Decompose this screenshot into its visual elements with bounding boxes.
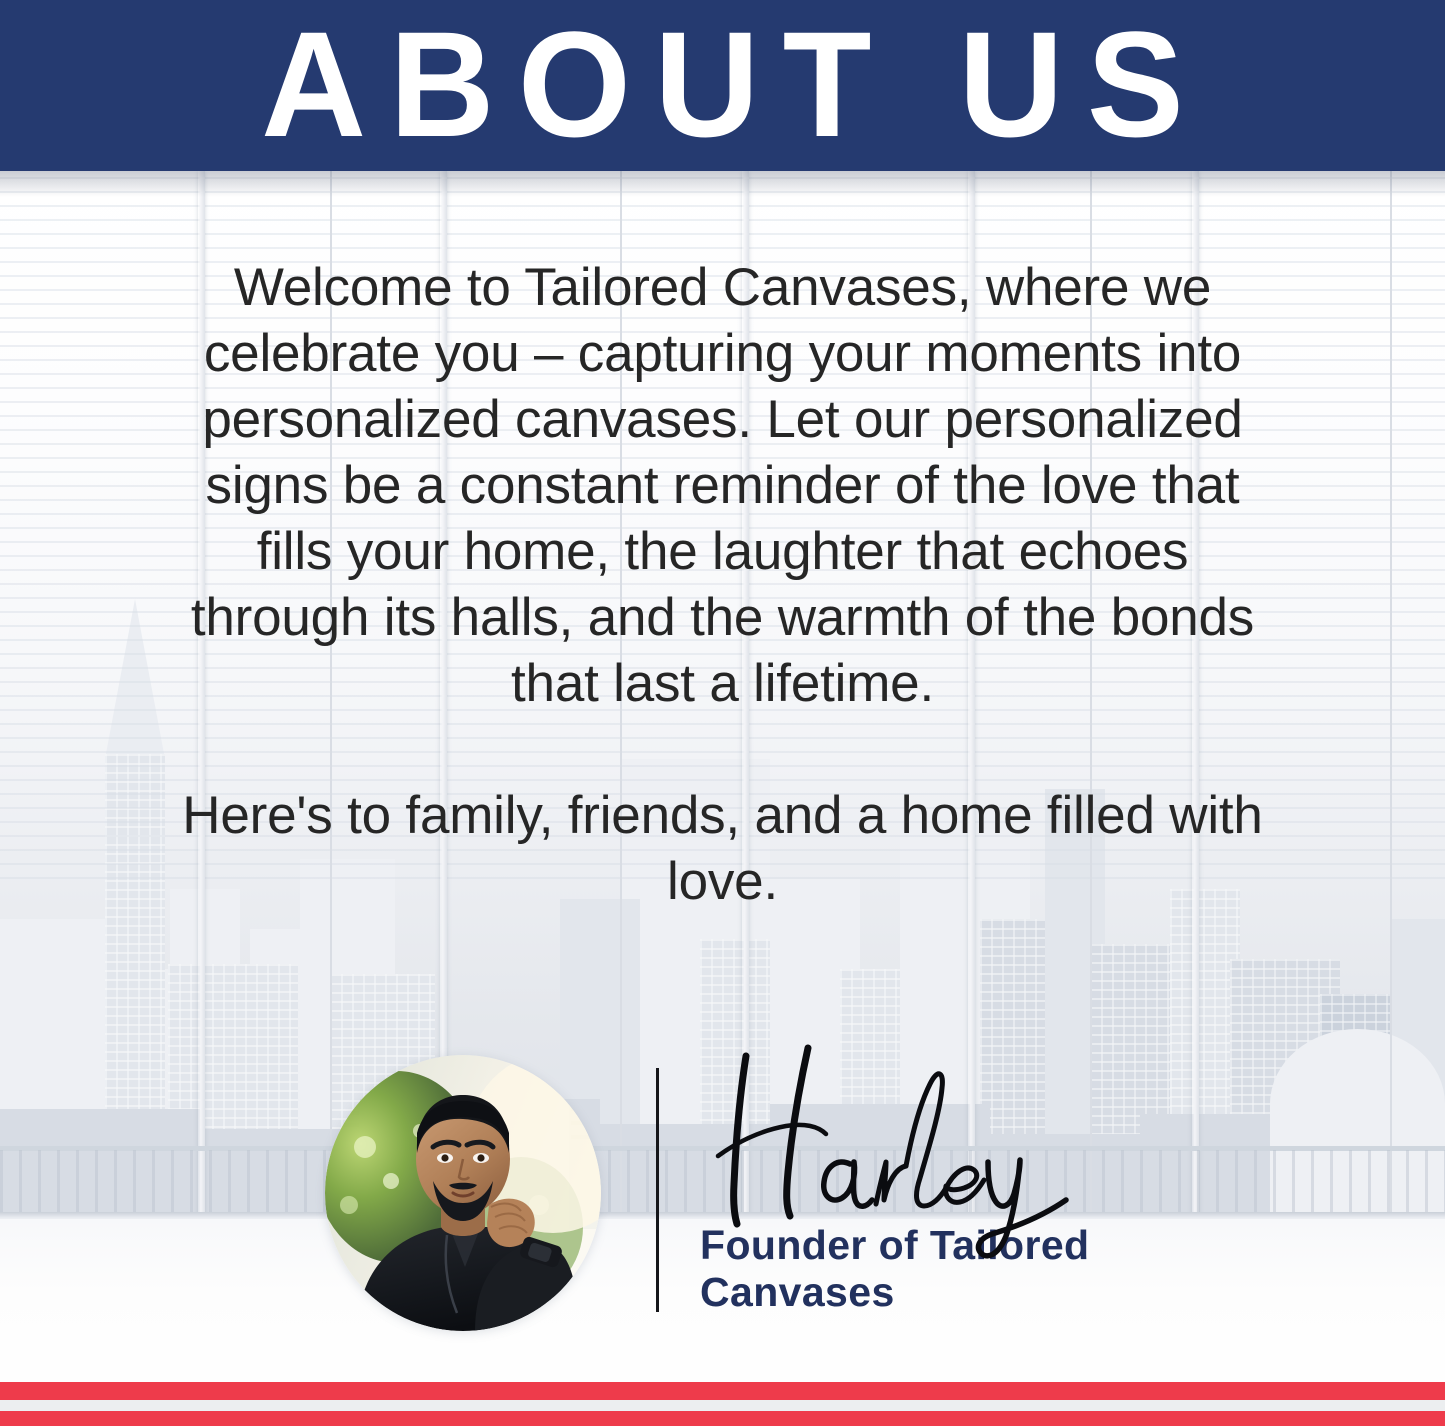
copy-paragraph-2: Here's to family, friends, and a home fi… <box>180 783 1265 915</box>
about-us-card: ABOUT US Welcome to Tailored Canvases, w… <box>0 0 1445 1426</box>
copy-paragraph-1: Welcome to Tailored Canvases, where we c… <box>180 255 1265 717</box>
paragraph-spacer <box>180 717 1265 783</box>
page-title: ABOUT US <box>22 4 1424 164</box>
footer-stripe-bottom <box>0 1411 1445 1426</box>
header-bar: ABOUT US <box>0 0 1445 171</box>
footer-stripe-top <box>0 1382 1445 1400</box>
founder-signature <box>700 1038 1120 1253</box>
about-us-copy: Welcome to Tailored Canvases, where we c… <box>180 255 1265 915</box>
window-mullion <box>1390 171 1392 1219</box>
founder-divider-line <box>656 1068 659 1312</box>
footer-stripe-gap <box>0 1400 1445 1411</box>
founder-portrait-photo <box>325 1055 601 1331</box>
founder-title-line-2: Canvases <box>700 1269 1170 1316</box>
header-drop-shadow <box>0 171 1445 197</box>
